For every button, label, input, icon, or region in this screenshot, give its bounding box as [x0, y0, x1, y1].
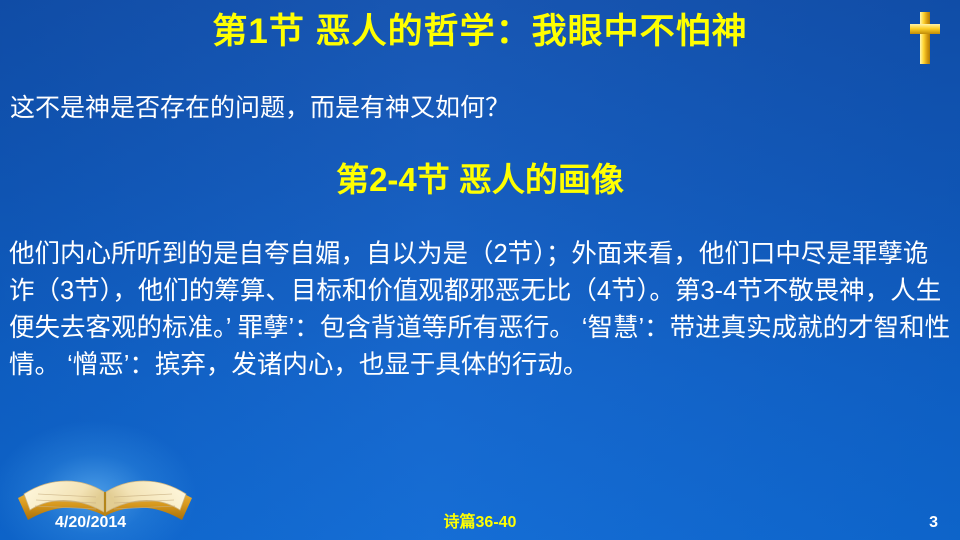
cross-icon: [908, 12, 942, 64]
footer-reference: 诗篇36-40: [0, 508, 960, 532]
slide-heading-2: 第2-4节 恶人的画像: [0, 158, 960, 202]
slide-canvas: 第1节 恶人的哲学：我眼中不怕神 这不是神是否存在的问题，而是有神又如何？ 第2…: [0, 0, 960, 540]
footer-page-number: 3: [929, 514, 938, 532]
slide-heading-1: 第1节 恶人的哲学：我眼中不怕神: [0, 10, 960, 54]
slide-body-text: 他们内心所听到的是自夸自媚，自以为是（2节）；外面来看，他们口中尽是罪孽诡诈（3…: [9, 236, 953, 384]
slide-subtext-1: 这不是神是否存在的问题，而是有神又如何？: [10, 90, 950, 126]
